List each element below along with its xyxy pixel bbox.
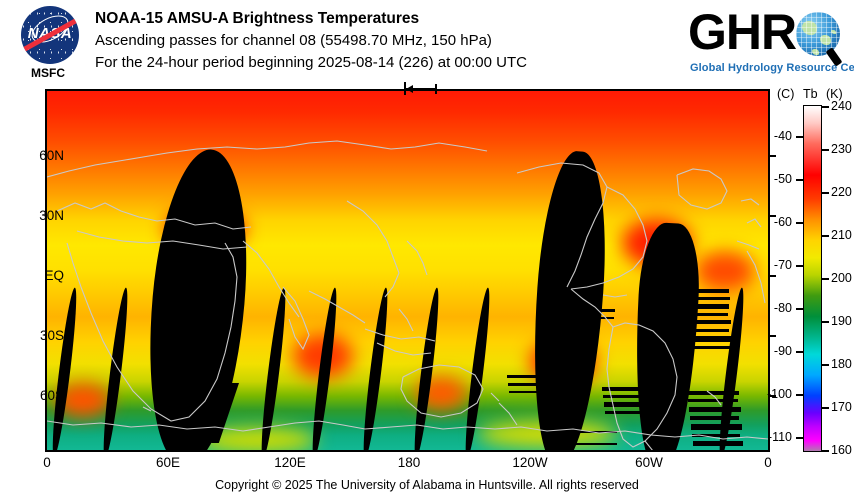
nasa-center-label: MSFC [14,66,82,80]
y-axis-label-eq: EQ [44,268,64,283]
colorbar-label-c-100: -100 [767,387,792,401]
colorbar-label-c-50: -50 [774,172,792,186]
colorbar-tick-c [796,308,803,310]
colorbar-label-k-210: 210 [831,228,852,242]
x-axis-label-0w: 0 [748,455,788,470]
colorbar-tick-c [796,351,803,353]
colorbar-unit-celsius: (C) [777,87,794,101]
page-period: For the 24-hour period beginning 2025-08… [95,52,675,74]
colorbar-label-k-180: 180 [831,357,852,371]
colorbar-gradient [803,105,822,452]
colorbar-label-k-190: 190 [831,314,852,328]
colorbar-tick-k [822,364,829,366]
y-axis-tick [769,155,776,157]
x-axis-label-120w: 120W [508,455,552,470]
colorbar-label-k-200: 200 [831,271,852,285]
colorbar-label-k-170: 170 [831,400,852,414]
equator-crossing-marker-icon [404,82,438,96]
colorbar-label-k-160: 160 [831,443,852,457]
colorbar-label-c-40: -40 [774,129,792,143]
ghrc-subtitle: Global Hydrology Resource Center [690,62,854,74]
marker-arrowhead [406,85,413,93]
y-axis-label-60n: 60N [39,148,64,163]
colorbar-tick-k [822,192,829,194]
colorbar-label-k-220: 220 [831,185,852,199]
colorbar-tick-k [822,407,829,409]
header: NASA MSFC NOAA-15 AMSU-A Brightness Temp… [0,0,854,90]
colorbar-tick-c [796,222,803,224]
colorbar-tick-k [822,106,829,108]
copyright-notice: Copyright © 2025 The University of Alaba… [0,478,854,492]
colorbar-label-k-230: 230 [831,142,852,156]
nasa-logo: NASA MSFC [14,6,82,84]
y-axis-label-30n: 30N [39,208,64,223]
x-axis-label-180: 180 [389,455,429,470]
x-axis-label-60w: 60W [629,455,669,470]
colorbar-tick-k [822,149,829,151]
colorbar-tick-k [822,278,829,280]
colorbar-tick-c [796,437,803,439]
colorbar-tick-k [822,235,829,237]
coastline-overlay [47,91,768,450]
ghrc-wordmark: GHR [688,4,796,60]
colorbar-label-c-60: -60 [774,215,792,229]
colorbar-variable-name: Tb [803,87,818,101]
x-axis-label-120e: 120E [268,455,312,470]
ghrc-logo: GHR Global Hydrology Resource Center [688,4,848,86]
y-axis-tick [769,335,776,337]
page-title: NOAA-15 AMSU-A Brightness Temperatures [95,8,675,30]
y-axis-label-30s: 30S [40,328,64,343]
map-plot-area [47,91,768,450]
colorbar-tick-c [796,394,803,396]
brightness-temperature-heatmap [47,91,768,450]
marker-endcap [435,84,437,94]
nasa-insignia-icon: NASA [21,6,79,64]
colorbar-tick-c [796,179,803,181]
colorbar-label-k-240: 240 [831,99,852,113]
x-axis-label-60e: 60E [148,455,188,470]
colorbar-tick-c [796,265,803,267]
y-axis-tick [769,275,776,277]
colorbar-label-c-70: -70 [774,258,792,272]
x-axis-label-0e: 0 [27,455,67,470]
colorbar-tick-k [822,321,829,323]
colorbar-tick-c [796,136,803,138]
title-block: NOAA-15 AMSU-A Brightness Temperatures A… [95,8,675,74]
colorbar-label-c-110: -110 [768,430,792,444]
y-axis-label-60s: 60S [40,388,64,403]
colorbar-tick-k [822,450,829,452]
page-subtitle: Ascending passes for channel 08 (55498.7… [95,30,675,52]
colorbar-label-c-80: -80 [774,301,792,315]
colorbar-label-c-90: -90 [774,344,792,358]
